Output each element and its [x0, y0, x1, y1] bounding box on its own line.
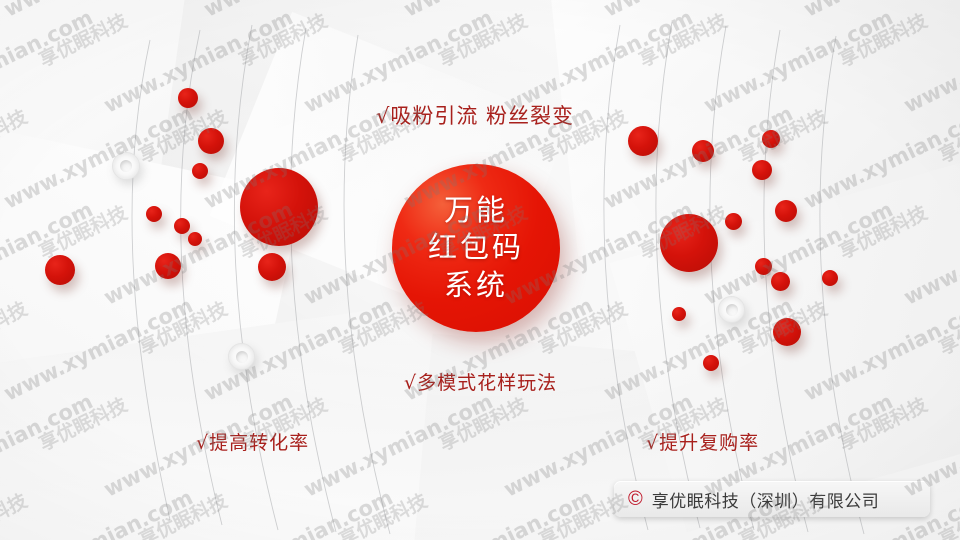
badge-line-2: 红包码: [428, 229, 524, 266]
red-dot: [692, 140, 714, 162]
red-dot: [178, 88, 198, 108]
red-dot: [628, 126, 658, 156]
white-ring-dot: [718, 296, 745, 323]
red-dot: [198, 128, 224, 154]
red-dot: [752, 160, 772, 180]
red-dot: [155, 253, 181, 279]
red-dot: [146, 206, 162, 222]
caption-left: √提高转化率: [196, 428, 309, 455]
red-dot: [192, 163, 208, 179]
copyright-badge: © 享优眠科技（深圳）有限公司: [614, 481, 930, 517]
slide-canvas: 万能 红包码 系统 √吸粉引流 粉丝裂变 √多模式花样玩法 √提高转化率 √提升…: [0, 0, 960, 540]
white-ring-dot: [112, 152, 140, 180]
red-dot: [775, 200, 797, 222]
red-dot: [672, 307, 686, 321]
caption-middle: √多模式花样玩法: [404, 368, 557, 395]
red-dot: [771, 272, 790, 291]
red-dot: [762, 130, 780, 148]
center-product-badge[interactable]: 万能 红包码 系统: [392, 164, 560, 332]
red-dot: [258, 253, 286, 281]
red-dot: [45, 255, 75, 285]
company-name: 享优眠科技（深圳）有限公司: [652, 487, 880, 512]
red-dot: [703, 355, 719, 371]
red-dot: [725, 213, 742, 230]
caption-top: √吸粉引流 粉丝裂变: [376, 100, 574, 130]
badge-line-1: 万能: [444, 192, 508, 229]
red-dot: [188, 232, 202, 246]
white-ring-dot: [228, 343, 255, 370]
caption-right: √提升复购率: [646, 428, 759, 455]
copyright-icon: ©: [628, 489, 643, 509]
red-dot: [773, 318, 801, 346]
red-dot: [660, 214, 718, 272]
red-dot: [822, 270, 838, 286]
red-dot: [174, 218, 190, 234]
red-dot: [755, 258, 772, 275]
red-dot: [240, 168, 318, 246]
badge-line-3: 系统: [444, 267, 508, 304]
